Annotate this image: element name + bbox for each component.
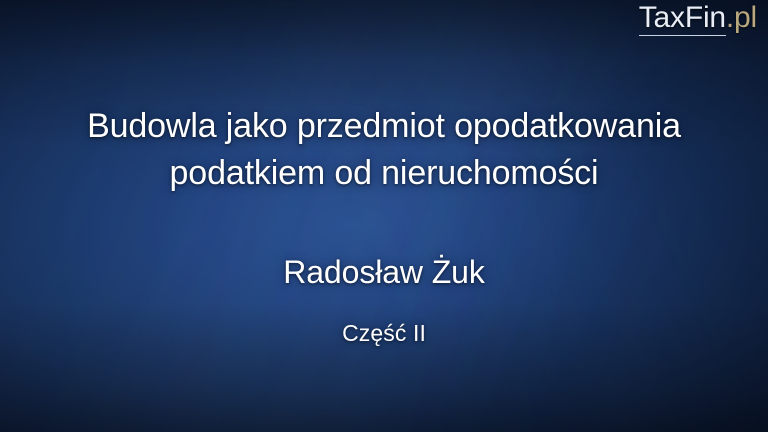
slide-content: Budowla jako przedmiot opodatkowania pod…: [0, 0, 768, 432]
title-line-2: podatkiem od nieruchomości: [34, 150, 734, 197]
slide-subtitle: Część II: [0, 318, 768, 348]
title-line-1: Budowla jako przedmiot opodatkowania: [34, 103, 734, 150]
author-name: Radosław Żuk: [0, 252, 768, 292]
page-title: Budowla jako przedmiot opodatkowania pod…: [0, 103, 768, 197]
presentation-slide: TaxFin .pl Budowla jako przedmiot opodat…: [0, 0, 768, 432]
